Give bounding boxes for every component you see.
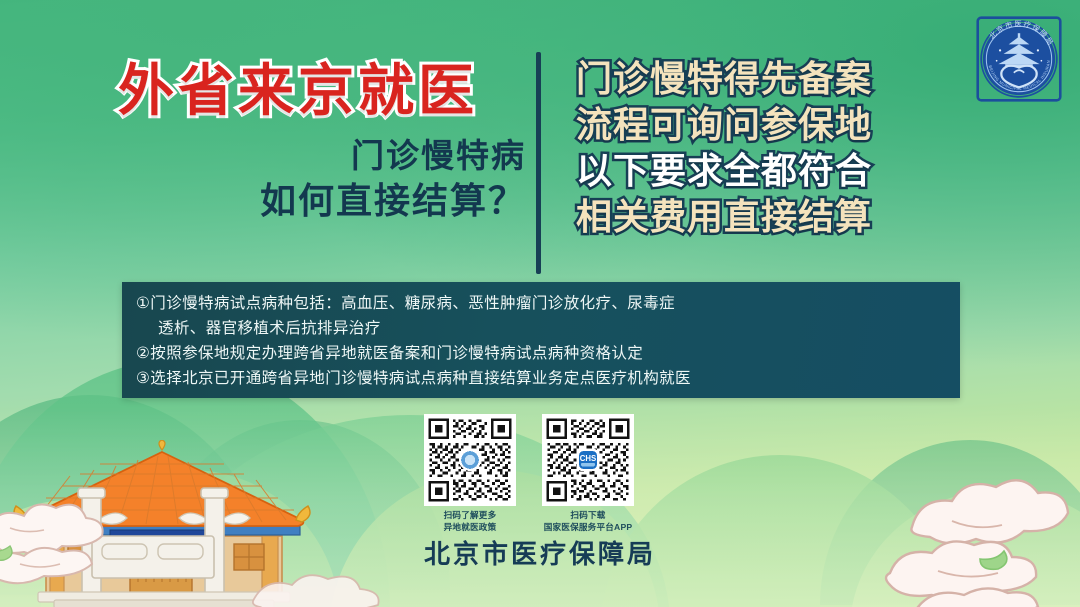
subtitle-line-2: 如何直接结算？	[96, 180, 526, 222]
decorative-cloud-right	[860, 455, 1080, 607]
qr-code-area: 扫码了解更多 异地就医政策	[424, 414, 656, 533]
qr-policy-caption-line2: 异地就医政策	[444, 522, 497, 532]
headline-right-group: 门诊慢特得先备案 流程可询问参保地 以下要求全都符合 相关费用直接结算	[576, 56, 956, 240]
poster-root: 北京市医疗保障局 BEIJING MUNICIPAL MEDICAL INSUR…	[0, 0, 1080, 607]
chs-logo-text: CHS	[580, 454, 596, 463]
beijing-medical-insurance-logo: 北京市医疗保障局 BEIJING MUNICIPAL MEDICAL INSUR…	[976, 16, 1062, 102]
info-line-1: ①门诊慢特病试点病种包括：高血压、糖尿病、恶性肿瘤门诊放化疗、尿毒症	[136, 291, 946, 316]
qr-block-app[interactable]: CHS 扫码下载 国家医保服务平台APP	[542, 414, 634, 533]
footer-organization: 北京市医疗保障局	[0, 534, 1080, 571]
right-headline-line-3: 以下要求全都符合	[576, 148, 956, 194]
vertical-divider	[536, 52, 541, 274]
qr-policy-caption: 扫码了解更多 异地就医政策	[424, 510, 516, 533]
info-line-3: ②按照参保地规定办理跨省异地就医备案和门诊慢特病试点病种资格认定	[136, 341, 946, 366]
qr-yidi-policy-icon[interactable]	[424, 414, 516, 506]
qr-policy-caption-line1: 扫码了解更多	[444, 510, 497, 520]
right-headline-line-4: 相关费用直接结算	[576, 194, 956, 240]
right-headline-line-1: 门诊慢特得先备案	[576, 56, 956, 102]
right-headline-line-2: 流程可询问参保地	[576, 102, 956, 148]
qr-app-caption: 扫码下载 国家医保服务平台APP	[542, 510, 634, 533]
qr-app-caption-line1: 扫码下载	[570, 510, 605, 520]
info-line-4: ③选择北京已开通跨省异地门诊慢特病试点病种直接结算业务定点医疗机构就医	[136, 366, 946, 391]
main-title: 外省来京就医	[96, 60, 526, 123]
subtitle-line-1: 门诊慢特病	[96, 137, 526, 176]
info-box: ①门诊慢特病试点病种包括：高血压、糖尿病、恶性肿瘤门诊放化疗、尿毒症 透析、器官…	[122, 282, 960, 398]
headline-left-group: 外省来京就医 门诊慢特病 如何直接结算？	[96, 60, 526, 222]
qr-app-caption-line2: 国家医保服务平台APP	[544, 522, 633, 532]
qr-block-policy[interactable]: 扫码了解更多 异地就医政策	[424, 414, 516, 533]
qr-chs-app-icon[interactable]: CHS	[542, 414, 634, 506]
info-line-2: 透析、器官移植术后抗排异治疗	[136, 316, 946, 341]
